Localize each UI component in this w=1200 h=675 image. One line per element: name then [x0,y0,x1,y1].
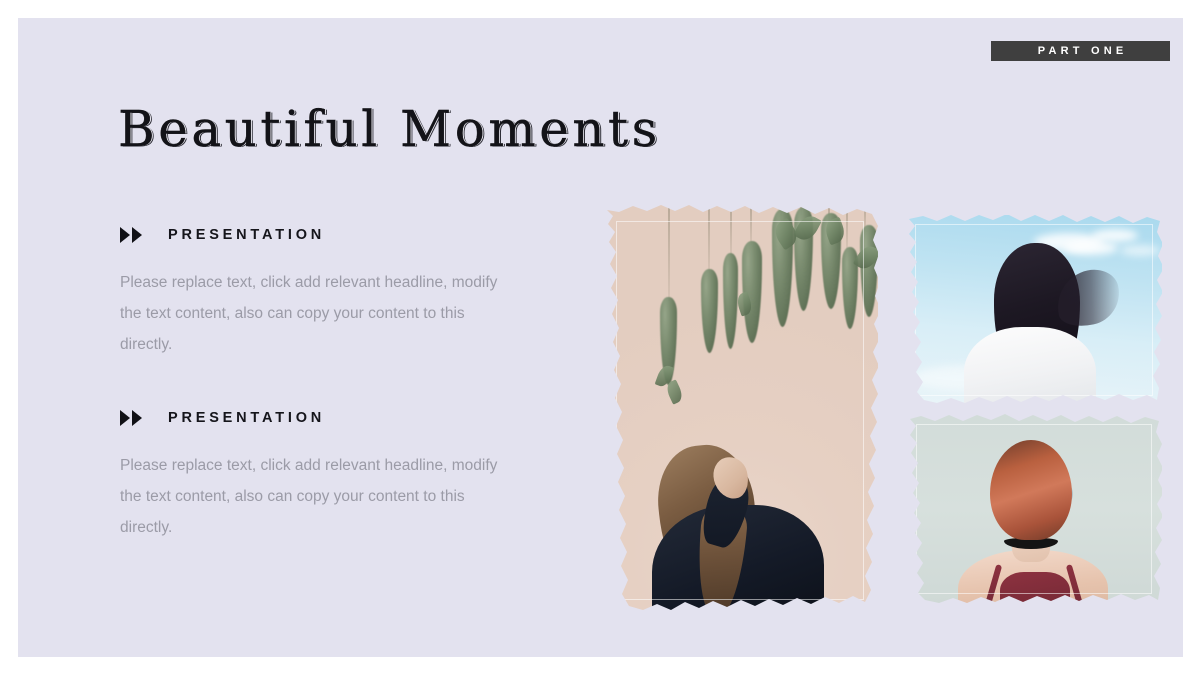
double-triangle-arrow-icon [120,410,142,426]
photo-hanging-plants-and-woman [602,205,878,616]
double-triangle-arrow-icon [120,227,142,243]
part-badge: PART ONE [991,41,1170,61]
content-block-2-heading: PRESENTATION [120,406,540,430]
page-title: Beautiful Moments [118,100,661,158]
content-block-1-label: PRESENTATION [168,227,325,243]
presentation-slide: PART ONE Beautiful Moments PRESENTATION … [18,18,1183,657]
content-block-2: PRESENTATION Please replace text, click … [120,406,540,543]
content-block-1-heading: PRESENTATION [120,223,540,247]
content-block-2-label: PRESENTATION [168,410,325,426]
content-block-1: PRESENTATION Please replace text, click … [120,223,540,360]
photo-woman-copper-bob [906,414,1162,604]
content-block-2-body: Please replace text, click add relevant … [120,450,520,543]
content-block-1-body: Please replace text, click add relevant … [120,267,520,360]
photo-woman-against-sky [906,215,1162,405]
